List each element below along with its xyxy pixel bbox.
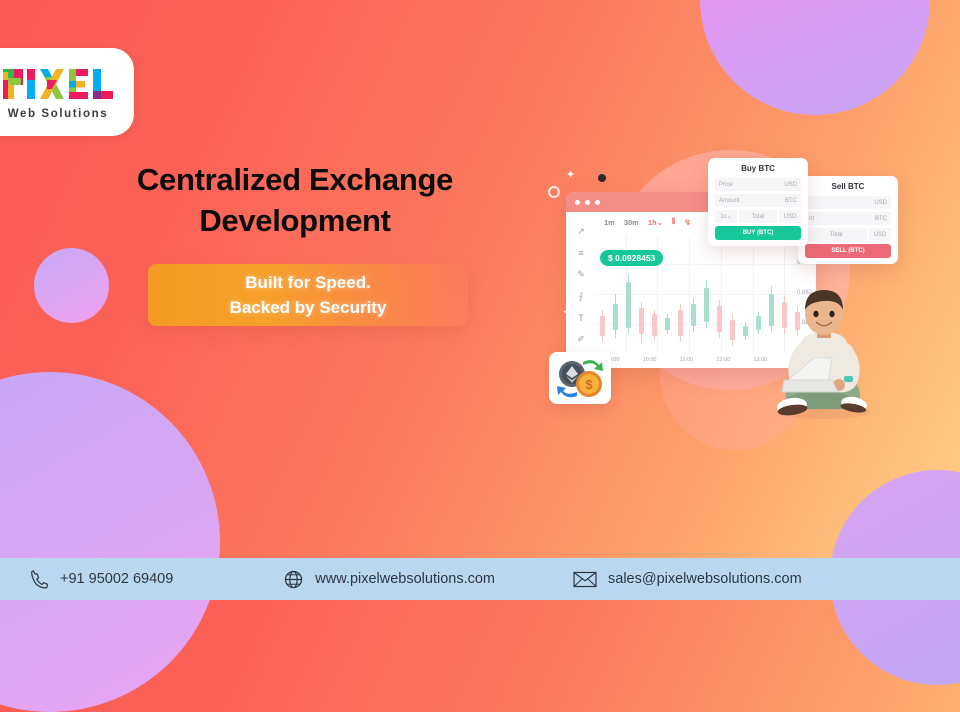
buy-total-row: 1x⌄ Total USD (715, 210, 801, 223)
sell-price-unit: USD (874, 200, 887, 206)
page-title: Centralized Exchange Development (60, 160, 530, 242)
indicator-icon[interactable]: ↯ (684, 218, 691, 227)
chart-drawing-tools: ↗ ≡ ✎ ⨍ T ✐ (568, 218, 594, 345)
trend-line-icon[interactable]: ↗ (577, 226, 585, 237)
footer-website[interactable]: www.pixelwebsolutions.com (283, 569, 495, 590)
candle-body (665, 318, 670, 330)
current-price-badge: $ 0.0928453 (600, 250, 663, 266)
candle-body (639, 308, 644, 334)
subtitle-line-2: Backed by Security (230, 295, 387, 321)
buy-leverage-select[interactable]: 1x⌄ (715, 210, 737, 223)
x-axis-label: 11:00 (680, 357, 693, 363)
text-tool-icon[interactable]: T (578, 313, 584, 323)
globe-icon (283, 569, 304, 590)
candle-body (717, 306, 722, 332)
candle-body (704, 288, 709, 322)
phone-icon (28, 569, 49, 590)
sell-panel-title: Sell BTC (805, 182, 891, 191)
buy-button[interactable]: BUY (BTC) (715, 226, 801, 240)
window-dot-maximize[interactable] (595, 200, 600, 205)
footer-website-text: www.pixelwebsolutions.com (315, 571, 495, 587)
x-axis-label: 10:00 (643, 357, 657, 363)
subtitle-banner: Built for Speed. Backed by Security (148, 264, 468, 326)
candle-body (613, 304, 618, 330)
candle-body (691, 304, 696, 326)
footer-phone[interactable]: +91 95002 69409 (28, 569, 173, 590)
candle-body (600, 316, 605, 336)
timeframe-30m[interactable]: 30m (624, 218, 639, 227)
brand-logo: Web Solutions (0, 48, 134, 136)
candle-body (652, 314, 657, 336)
buy-price-field[interactable]: Price USD (715, 178, 801, 191)
decorative-circle-left-small (34, 248, 109, 323)
timeframe-1h[interactable]: 1h⌄ (648, 218, 663, 227)
decorative-dot (598, 174, 606, 182)
contact-footer: +91 95002 69409 www.pixelwebsolutions.co… (0, 558, 960, 600)
candle-body (678, 310, 683, 336)
eraser-icon[interactable]: ✐ (577, 334, 585, 345)
buy-order-panel: Buy BTC Price USD Amount BTC 1x⌄ Total U… (708, 158, 808, 246)
decorative-circle-top-right (700, 0, 930, 115)
buy-panel-title: Buy BTC (715, 164, 801, 173)
coin-swap-icon: $ (549, 352, 611, 404)
candle-body (730, 320, 735, 340)
buy-amount-placeholder: Amount (719, 198, 740, 204)
svg-text:$: $ (585, 377, 593, 392)
sell-amount-placeholder: nt (809, 216, 814, 222)
window-dot-minimize[interactable] (585, 200, 590, 205)
buy-price-placeholder: Price (719, 182, 733, 188)
headline-line-2: Development (199, 203, 390, 238)
candles-icon[interactable]: ⫴ (672, 217, 675, 227)
buy-total-unit: USD (779, 210, 801, 223)
sell-amount-field[interactable]: nt BTC (805, 212, 891, 225)
sell-button[interactable]: SELL (BTC) (805, 244, 891, 258)
footer-phone-text: +91 95002 69409 (60, 571, 173, 587)
footer-email-text: sales@pixelwebsolutions.com (608, 571, 802, 587)
person-with-laptop-illustration (762, 288, 884, 420)
subtitle-line-1: Built for Speed. (245, 270, 371, 296)
buy-total-field[interactable]: Total (739, 210, 777, 223)
decorative-sparkle-icon: ✦ (566, 168, 575, 181)
buy-amount-field[interactable]: Amount BTC (715, 194, 801, 207)
pixel-logo-icon (0, 65, 117, 103)
sell-amount-unit: BTC (875, 216, 887, 222)
mail-icon (573, 570, 597, 589)
headline-line-1: Centralized Exchange (137, 162, 453, 197)
brand-tagline: Web Solutions (8, 108, 108, 120)
timeframe-1m[interactable]: 1m (604, 218, 615, 227)
buy-price-unit: USD (784, 182, 797, 188)
decorative-circle-left-large (0, 372, 220, 712)
candle-body (743, 326, 748, 336)
decorative-ring (548, 186, 560, 198)
sell-total-field[interactable]: Total (805, 228, 867, 241)
footer-email[interactable]: sales@pixelwebsolutions.com (573, 570, 802, 589)
fib-retracement-icon[interactable]: ⨍ (579, 291, 584, 302)
horizontal-lines-icon[interactable]: ≡ (578, 248, 583, 258)
sell-total-unit: USD (869, 228, 891, 241)
sell-order-panel: Sell BTC USD nt BTC Total USD SELL (BTC) (798, 176, 898, 264)
window-dot-close[interactable] (575, 200, 580, 205)
candle-body (626, 282, 631, 328)
buy-amount-unit: BTC (785, 198, 797, 204)
crypto-swap-card: $ (549, 352, 611, 404)
brush-icon[interactable]: ✎ (577, 269, 585, 280)
candle-body (756, 316, 761, 330)
sell-total-row: Total USD (805, 228, 891, 241)
x-axis-label: 12:00 (716, 357, 730, 363)
sell-price-field[interactable]: USD (805, 196, 891, 209)
